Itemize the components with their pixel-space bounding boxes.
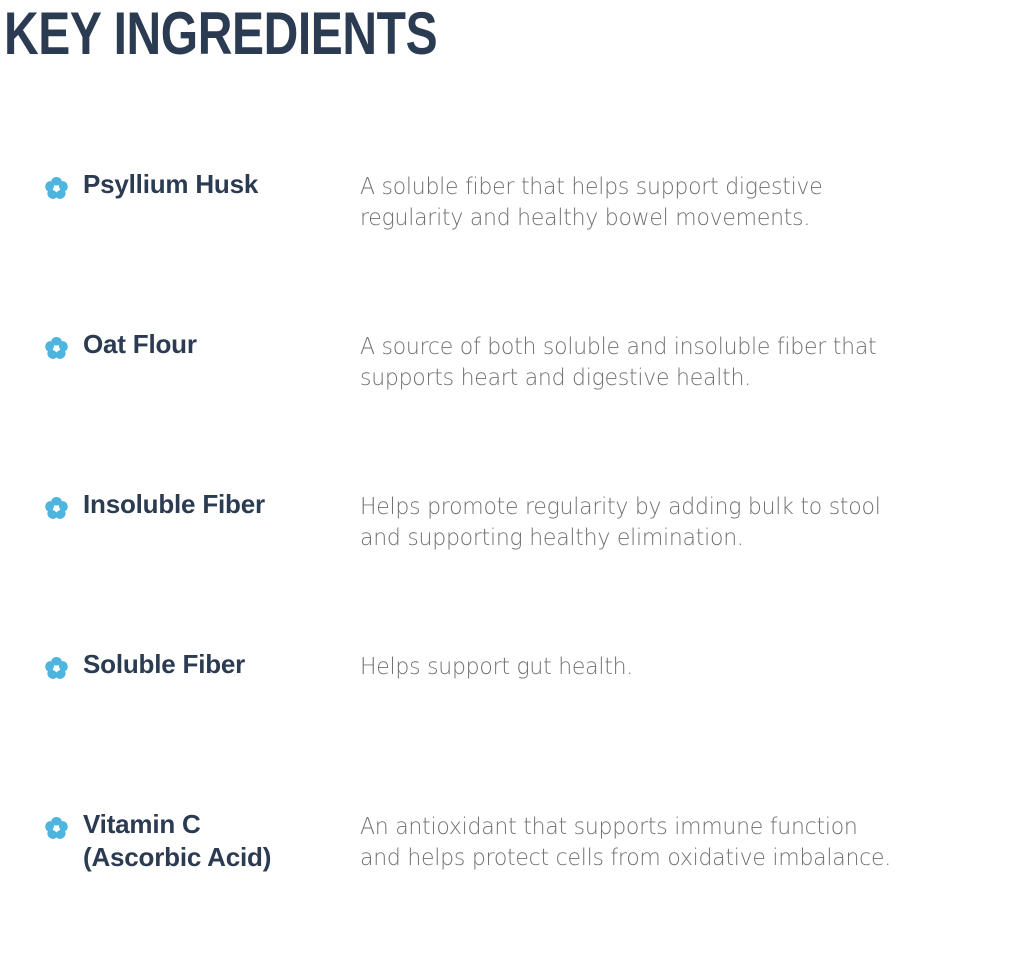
ingredient-list: Psyllium Husk A soluble fiber that helps… [0,168,1024,968]
ingredient-name: Soluble Fiber [83,648,245,681]
ingredient-description: Helps promote regularity by adding bulk … [360,488,994,554]
five-petal-flower-icon [44,656,69,681]
list-item: Vitamin C (Ascorbic Acid) An antioxidant… [0,808,1024,968]
five-petal-flower-icon [44,816,69,841]
ingredient-label-group: Insoluble Fiber [0,488,360,521]
list-item: Psyllium Husk A soluble fiber that helps… [0,168,1024,328]
ingredient-description: A source of both soluble and insoluble f… [360,328,994,394]
ingredient-name: Vitamin C (Ascorbic Acid) [83,808,283,874]
ingredient-label-group: Vitamin C (Ascorbic Acid) [0,808,360,874]
list-item: Oat Flour A source of both soluble and i… [0,328,1024,488]
ingredient-label-group: Oat Flour [0,328,360,361]
ingredient-name: Insoluble Fiber [83,488,265,521]
ingredient-description: Helps support gut health. [360,648,994,683]
list-item: Soluble Fiber Helps support gut health. [0,648,1024,808]
list-item: Insoluble Fiber Helps promote regularity… [0,488,1024,648]
key-ingredients-page: KEY INGREDIENTS Psyllium Husk A soluble … [0,0,1024,925]
ingredient-name: Oat Flour [83,328,197,361]
ingredient-description: A soluble fiber that helps support diges… [360,168,994,234]
five-petal-flower-icon [44,176,69,201]
ingredient-label-group: Soluble Fiber [0,648,360,681]
five-petal-flower-icon [44,496,69,521]
ingredient-name: Psyllium Husk [83,168,258,201]
ingredient-label-group: Psyllium Husk [0,168,360,201]
page-title: KEY INGREDIENTS [4,2,437,66]
five-petal-flower-icon [44,336,69,361]
ingredient-description: An antioxidant that supports immune func… [360,808,994,874]
